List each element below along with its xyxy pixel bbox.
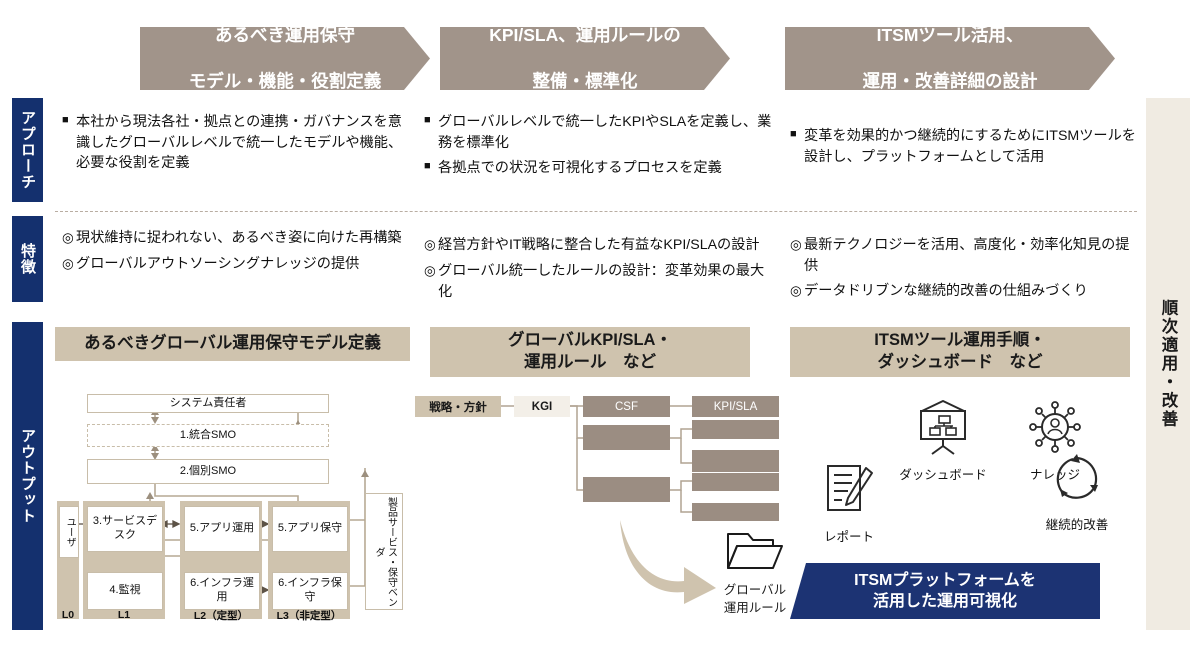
feature-column-1: 現状維持に捉われない、あるべき姿に向けた再構築 グローバルアウトソーシングナレッ…	[62, 228, 412, 280]
tree-node-csf-3	[583, 477, 670, 502]
report-label: レポート	[795, 526, 903, 545]
approach-column-2: グローバルレベルで統一したKPIやSLAを定義し、業務を標準化 各拠点での状況を…	[424, 112, 774, 184]
org-box-vendor: 製品サービス・保守ベンダ	[365, 493, 403, 610]
tree-node-kpi-4	[692, 473, 779, 491]
double-circle-bullet-icon	[62, 228, 76, 249]
org-box-integrated-smo: 1.統合SMO	[87, 424, 329, 447]
square-bullet-icon	[424, 112, 438, 153]
double-circle-bullet-icon	[424, 261, 438, 302]
bullet-item: 本社から現法各社・拠点との連携・ガバナンスを意識したグローバルレベルで統一したモ…	[62, 112, 407, 174]
bullet-item: 変革を効果的かつ継続的にするためにITSMツールを設計し、プラットフォームとして…	[790, 126, 1140, 167]
square-bullet-icon	[62, 112, 76, 174]
row-label-approach: アプローチ	[12, 98, 43, 202]
dashboard-label: ダッシュボード	[880, 464, 1006, 483]
phase-arrow-2: KPI/SLA、運用ルールの 整備・標準化	[440, 27, 730, 90]
operating-model-diagram: システム責任者 1.統合SMO 2.個別SMO ユーザ 3.サービスデスク 5.…	[55, 388, 410, 633]
row-label-feature: 特徴	[12, 216, 43, 302]
double-circle-bullet-icon	[790, 281, 804, 302]
org-box-service-desk: 3.サービスデスク	[87, 506, 163, 552]
square-bullet-icon	[790, 126, 804, 167]
continuous-improvement-label: 継続的改善	[1018, 514, 1136, 533]
level-label-l3: L3（非定型）	[268, 609, 350, 621]
phase-1-line1: あるべき運用保守	[179, 24, 392, 47]
sequential-apply-label: 順次適用・改善	[1156, 299, 1180, 429]
tree-node-csf-2	[583, 425, 670, 450]
phase-arrow-3: ITSMツール活用、 運用・改善詳細の設計	[785, 27, 1115, 90]
phase-3-line2: 運用・改善詳細の設計	[853, 70, 1048, 93]
double-circle-bullet-icon	[790, 235, 804, 276]
square-bullet-icon	[424, 158, 438, 179]
phase-arrow-1: あるべき運用保守 モデル・機能・役割定義	[140, 27, 430, 90]
tree-node-kpi-2	[692, 420, 779, 439]
itsm-platform-banner: ITSMプラットフォームを 活用した運用可視化	[790, 563, 1100, 619]
bullet-item: 経営方針やIT戦略に整合した有益なKPI/SLAの設計	[424, 235, 769, 256]
folder-icon	[725, 528, 785, 574]
tree-node-kgi: KGI	[514, 396, 570, 417]
org-box-individual-smo: 2.個別SMO	[87, 459, 329, 484]
row-label-output: アウトプット	[12, 322, 43, 630]
continuous-improvement-item: 継続的改善	[1018, 452, 1136, 533]
output-header-3: ITSMツール運用手順・ ダッシュボード など	[790, 327, 1130, 377]
double-circle-bullet-icon	[62, 254, 76, 275]
output-header-2: グローバルKPI/SLA・ 運用ルール など	[430, 327, 750, 377]
level-label-l2: L2（定型）	[180, 609, 262, 621]
org-box-infra-maintenance: 6.インフラ保守	[272, 572, 348, 610]
org-box-app-maintenance: 5.アプリ保守	[272, 506, 348, 552]
phase-3-line1: ITSMツール活用、	[853, 24, 1048, 47]
bullet-item: 各拠点での状況を可視化するプロセスを定義	[424, 158, 774, 179]
phase-2-line2: 整備・標準化	[479, 70, 691, 93]
slide-canvas: あるべき運用保守 モデル・機能・役割定義 KPI/SLA、運用ルールの 整備・標…	[0, 0, 1200, 660]
sequential-apply-strip: 順次適用・改善	[1146, 98, 1190, 630]
org-box-system-owner: システム責任者	[87, 394, 329, 413]
double-circle-bullet-icon	[424, 235, 438, 256]
tree-node-strategy: 戦略・方針	[415, 396, 501, 417]
org-box-infra-operation: 6.インフラ運用	[184, 572, 260, 610]
continuous-improvement-icon	[1049, 452, 1105, 506]
section-divider	[55, 211, 1137, 212]
dashboard-icon	[912, 398, 974, 456]
kpi-breakdown-tree: 戦略・方針 KGI CSF KPI/SLA	[415, 393, 785, 523]
phase-1-line2: モデル・機能・役割定義	[179, 70, 392, 93]
phase-2-line1: KPI/SLA、運用ルールの	[479, 24, 691, 47]
org-box-app-operation: 5.アプリ運用	[184, 506, 260, 552]
bullet-item: データドリブンな継続的改善の仕組みづくり	[790, 281, 1140, 302]
approach-column-3: 変革を効果的かつ継続的にするためにITSMツールを設計し、プラットフォームとして…	[790, 126, 1140, 172]
tree-node-kpi-sla: KPI/SLA	[692, 396, 779, 417]
feature-column-2: 経営方針やIT戦略に整合した有益なKPI/SLAの設計 グローバル統一したルール…	[424, 235, 769, 307]
report-icon	[822, 460, 876, 518]
dashboard-item: ダッシュボード	[880, 398, 1006, 483]
knowledge-icon	[1026, 398, 1084, 456]
level-label-l1: L1	[83, 609, 165, 621]
feature-column-3: 最新テクノロジーを活用、高度化・効率化知見の提供 データドリブンな継続的改善の仕…	[790, 235, 1140, 307]
org-box-monitoring: 4.監視	[87, 572, 163, 610]
org-box-user: ユーザ	[59, 506, 79, 558]
bullet-item: 最新テクノロジーを活用、高度化・効率化知見の提供	[790, 235, 1140, 276]
tree-node-csf: CSF	[583, 396, 670, 417]
bullet-item: グローバルアウトソーシングナレッジの提供	[62, 254, 412, 275]
level-label-l0: L0	[57, 609, 79, 621]
bullet-item: グローバルレベルで統一したKPIやSLAを定義し、業務を標準化	[424, 112, 774, 153]
tree-node-kpi-3	[692, 450, 779, 472]
output-header-1: あるべきグローバル運用保守モデル定義	[55, 327, 410, 361]
bullet-item: 現状維持に捉われない、あるべき姿に向けた再構築	[62, 228, 412, 249]
approach-column-1: 本社から現法各社・拠点との連携・ガバナンスを意識したグローバルレベルで統一したモ…	[62, 112, 407, 179]
bullet-item: グローバル統一したルールの設計：変革効果の最大化	[424, 261, 769, 302]
